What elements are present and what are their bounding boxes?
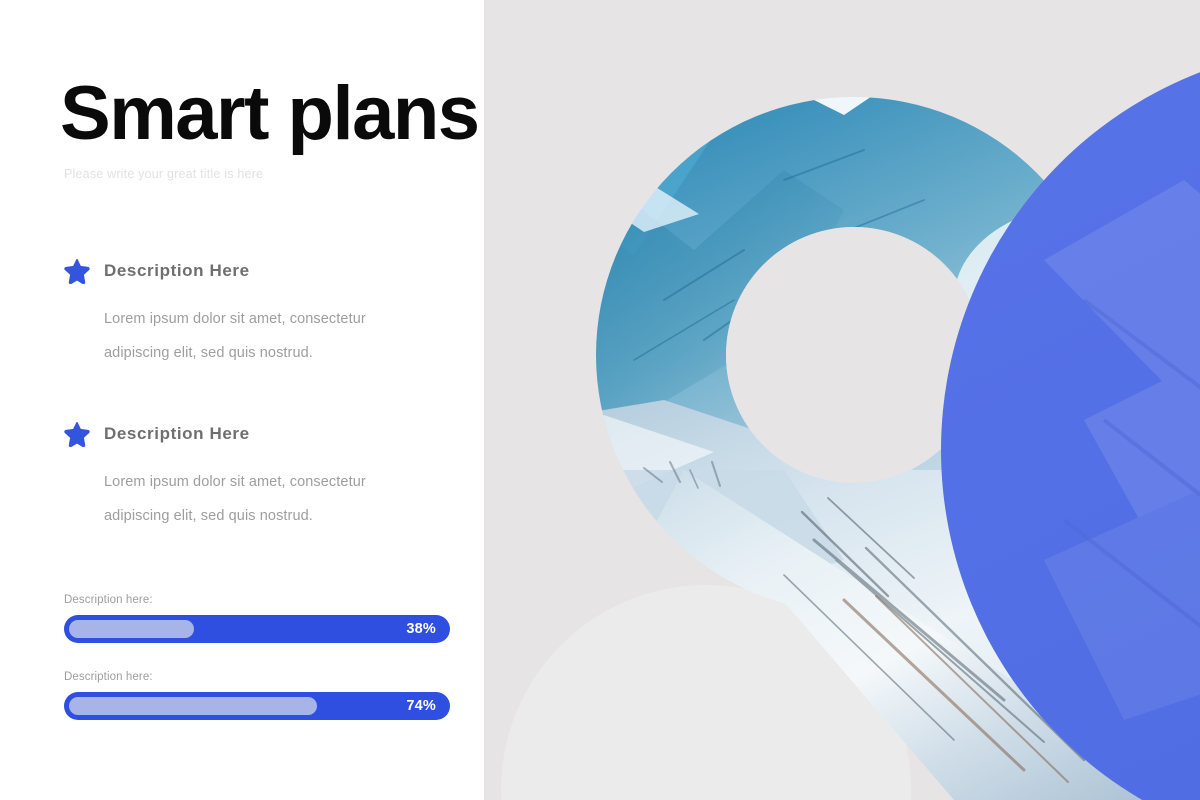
artwork-panel <box>484 0 1200 800</box>
star-icon <box>64 421 90 447</box>
feature-heading-row: Description Here <box>60 421 460 451</box>
feature-body: Lorem ipsum dolor sit amet, consectetur … <box>104 302 434 370</box>
page-subtitle: Please write your great title is here <box>64 166 263 182</box>
progress-bar-label: Description here: <box>64 592 450 608</box>
progress-bar-fill <box>69 697 317 715</box>
progress-bar-fill <box>69 620 194 638</box>
decorative-artwork <box>484 0 1200 800</box>
progress-bar-value: 74% <box>406 692 436 720</box>
star-icon <box>64 258 90 284</box>
page-title: Smart plans <box>60 72 479 156</box>
progress-bar-group-2: Description here: 74% <box>64 669 450 720</box>
feature-block-1: Description Here Lorem ipsum dolor sit a… <box>60 258 460 370</box>
progress-bar-label: Description here: <box>64 669 450 685</box>
feature-heading-row: Description Here <box>60 258 460 288</box>
progress-bar-track[interactable]: 74% <box>64 692 450 720</box>
feature-block-2: Description Here Lorem ipsum dolor sit a… <box>60 421 460 533</box>
feature-body: Lorem ipsum dolor sit amet, consectetur … <box>104 465 434 533</box>
slide-canvas: Smart plans Please write your great titl… <box>0 0 1200 800</box>
content-panel: Smart plans Please write your great titl… <box>0 0 484 800</box>
progress-bar-value: 38% <box>406 615 436 643</box>
progress-bar-list: Description here: 38% Description here: … <box>64 592 450 720</box>
progress-bar-track[interactable]: 38% <box>64 615 450 643</box>
progress-bar-group-1: Description here: 38% <box>64 592 450 643</box>
feature-title: Description Here <box>104 259 250 283</box>
feature-title: Description Here <box>104 422 250 446</box>
